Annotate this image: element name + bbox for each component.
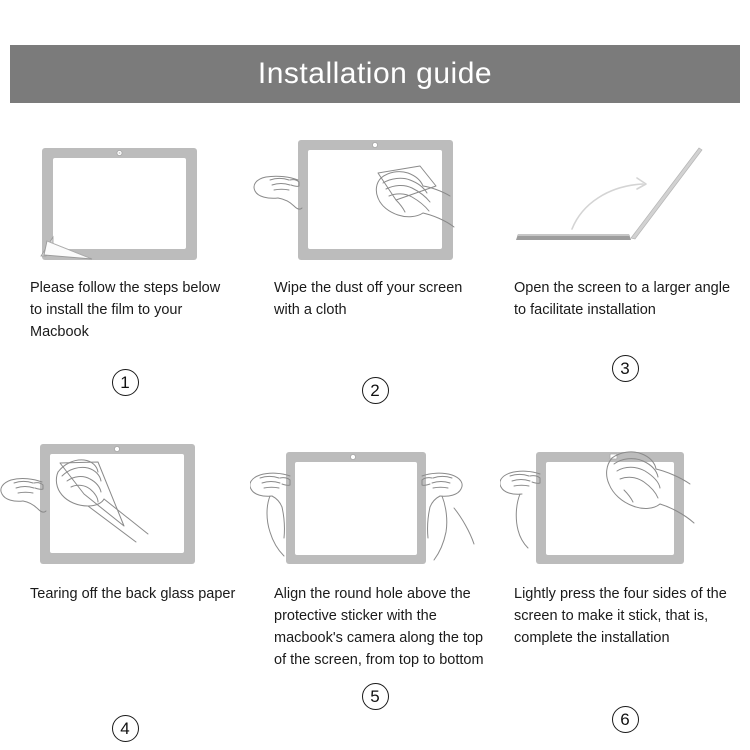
- step-3-number-wrap: 3: [500, 355, 750, 382]
- step-1-number-wrap: 1: [0, 369, 250, 396]
- step-number-badge: 3: [612, 355, 639, 382]
- hands-wiping-screen-with-cloth-icon: [250, 128, 500, 263]
- step-number-badge: 6: [612, 706, 639, 733]
- hand-pressing-four-sides-of-screen-icon: [500, 434, 750, 569]
- page-title: Installation guide: [258, 59, 492, 89]
- step-panel-2: Wipe the dust off your screen with a clo…: [250, 120, 500, 404]
- steps-row-bottom: Tearing off the back glass paper 4: [0, 426, 750, 742]
- step-4-illustration: [0, 434, 250, 569]
- hands-tearing-off-back-glass-paper-icon: [0, 434, 250, 569]
- step-1-caption: Please follow the steps below to install…: [0, 263, 250, 343]
- step-number-badge: 1: [112, 369, 139, 396]
- two-hands-aligning-film-on-screen-icon: [250, 434, 500, 569]
- step-number-badge: 2: [362, 377, 389, 404]
- step-2-caption: Wipe the dust off your screen with a clo…: [250, 263, 500, 329]
- step-panel-3: Open the screen to a larger angle to fac…: [500, 120, 750, 404]
- step-4-number-wrap: 4: [0, 715, 250, 742]
- step-panel-4: Tearing off the back glass paper 4: [0, 426, 250, 742]
- header-bar: Installation guide: [10, 45, 740, 103]
- step-5-illustration: [250, 434, 500, 569]
- step-3-illustration: [500, 128, 750, 263]
- step-3-caption: Open the screen to a larger angle to fac…: [500, 263, 750, 329]
- step-panel-5: Align the round hole above the protectiv…: [250, 426, 500, 742]
- step-number-badge: 5: [362, 683, 389, 710]
- step-6-caption: Lightly press the four sides of the scre…: [500, 569, 750, 649]
- step-panel-1: Please follow the steps below to install…: [0, 120, 250, 404]
- step-2-illustration: [250, 128, 500, 263]
- step-1-illustration: [0, 128, 250, 263]
- step-2-number-wrap: 2: [250, 377, 500, 404]
- step-6-number-wrap: 6: [500, 706, 750, 733]
- step-6-illustration: [500, 434, 750, 569]
- step-5-number-wrap: 5: [250, 683, 500, 710]
- step-panel-6: Lightly press the four sides of the scre…: [500, 426, 750, 742]
- laptop-side-profile-opening-screen-icon: [500, 128, 750, 263]
- steps-row-top: Please follow the steps below to install…: [0, 120, 750, 404]
- macbook-screen-with-peeling-film-corner-icon: [0, 128, 250, 263]
- steps-grid: Please follow the steps below to install…: [0, 120, 750, 742]
- step-5-caption: Align the round hole above the protectiv…: [250, 569, 500, 671]
- step-4-caption: Tearing off the back glass paper: [0, 569, 250, 635]
- step-number-badge: 4: [112, 715, 139, 742]
